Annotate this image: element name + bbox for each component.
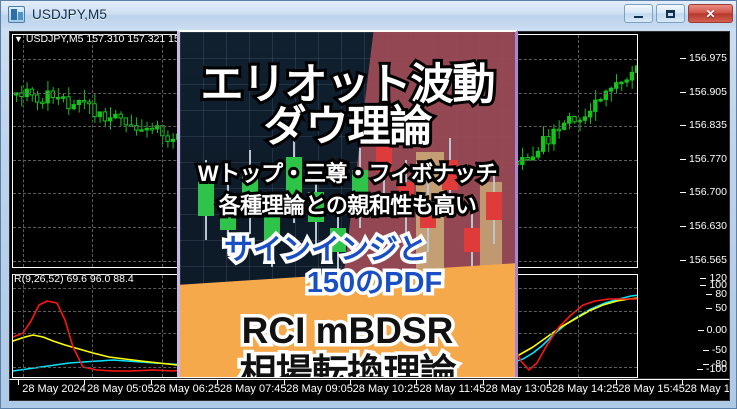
overlay-footer-2: 相場転換理論 bbox=[180, 354, 515, 377]
time-tick: 28 May 07:45 bbox=[220, 383, 287, 395]
time-tick-separator bbox=[151, 380, 152, 385]
time-tick: 28 May 06:25 bbox=[153, 383, 220, 395]
price-gridline-v bbox=[23, 35, 24, 267]
indicator-gridline-v bbox=[92, 275, 93, 377]
price-scale[interactable]: 156.975156.905156.835156.770156.700156.6… bbox=[638, 32, 730, 270]
collapse-caret-icon[interactable]: ▼ bbox=[14, 34, 23, 44]
time-tick-separator bbox=[284, 380, 285, 385]
time-tick-separator bbox=[483, 380, 484, 385]
window-controls: ✕ bbox=[624, 4, 733, 23]
time-tick-separator bbox=[217, 380, 218, 385]
window-title: USDJPY,M5 bbox=[32, 7, 107, 22]
price-tick: 156.630 bbox=[689, 220, 727, 232]
indicator-gridline-v bbox=[578, 275, 579, 377]
indicator-tick: 80 bbox=[715, 288, 727, 300]
price-gridline-v bbox=[92, 35, 93, 267]
title-bar: USDJPY,M5 ✕ bbox=[1, 1, 737, 28]
price-pane-label: ▼USDJPY,M5 157.310 157.321 157. bbox=[14, 33, 189, 45]
time-tick: 28 May 10:25 bbox=[353, 383, 420, 395]
price-tick: 156.975 bbox=[689, 52, 727, 64]
overlay-headline-2: ダウ理論 bbox=[180, 106, 515, 149]
time-axis[interactable]: 28 May 202428 May 05:0528 May 06:2528 Ma… bbox=[9, 379, 730, 401]
indicator-pane-label: R(9,26,52) 69.6 96.0 88.4 bbox=[14, 273, 134, 285]
time-tick: 28 May 14:25 bbox=[552, 383, 619, 395]
chart-window-icon bbox=[8, 6, 25, 23]
indicator-scale[interactable]: 12010080500.00-50-80-100 bbox=[638, 272, 730, 379]
price-tick: 156.565 bbox=[689, 254, 727, 266]
time-tick-separator bbox=[416, 380, 417, 385]
indicator-gridline-v bbox=[162, 275, 163, 377]
indicator-gridline-v bbox=[23, 275, 24, 377]
time-tick: 28 May 15:45 bbox=[618, 383, 685, 395]
indicator-tick: 0.00 bbox=[707, 324, 727, 336]
price-gridline-v bbox=[578, 35, 579, 267]
indicator-tick: 50 bbox=[715, 302, 727, 314]
overlay-subline-2: 各種理論との親和性も高い bbox=[180, 195, 515, 217]
price-tick: 156.905 bbox=[689, 86, 727, 98]
minimize-button[interactable] bbox=[624, 4, 653, 23]
overlay-headline-1: エリオット波動 bbox=[180, 64, 515, 107]
time-tick: 28 May 13:05 bbox=[485, 383, 552, 395]
overlay-accent-2: 150のPDF bbox=[180, 269, 515, 298]
indicator-tick: -100 bbox=[706, 363, 727, 375]
time-tick: 28 May 05:05 bbox=[87, 383, 154, 395]
maximize-button[interactable] bbox=[656, 4, 685, 23]
mt4-window: USDJPY,M5 ✕ 156.975156.905156.835156.770… bbox=[0, 0, 737, 409]
indicator-tick: -50 bbox=[712, 344, 727, 356]
time-tick-separator bbox=[616, 380, 617, 385]
time-tick-separator bbox=[84, 380, 85, 385]
time-tick-separator bbox=[350, 380, 351, 385]
time-tick-separator bbox=[18, 380, 19, 385]
overlay-subline-1: Wトップ・三尊・フィボナッチ bbox=[180, 163, 515, 185]
overlay-accent-1: サインインジと bbox=[180, 236, 515, 265]
price-tick: 156.700 bbox=[689, 186, 727, 198]
time-tick-separator bbox=[549, 380, 550, 385]
time-tick: 28 May 2024 bbox=[22, 383, 86, 395]
overlay-footer-1: RCI mBDSR bbox=[180, 312, 515, 349]
price-gridline-v bbox=[162, 35, 163, 267]
price-tick: 156.770 bbox=[689, 153, 727, 165]
close-button[interactable]: ✕ bbox=[688, 4, 733, 23]
promo-overlay: エリオット波動 ダウ理論 Wトップ・三尊・フィボナッチ 各種理論との親和性も高い… bbox=[177, 30, 518, 377]
time-tick: 28 May 09:05 bbox=[286, 383, 353, 395]
time-tick: 28 May 17:05 bbox=[685, 383, 730, 395]
time-tick: 28 May 11:45 bbox=[419, 383, 485, 395]
price-tick: 156.835 bbox=[689, 119, 727, 131]
time-tick-separator bbox=[682, 380, 683, 385]
